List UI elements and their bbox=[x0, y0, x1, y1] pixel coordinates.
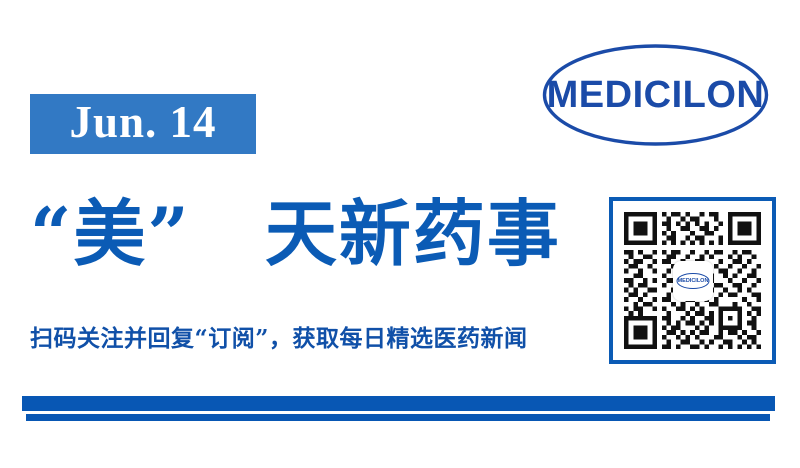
qr-center-brand-logo-icon: MEDICILON bbox=[673, 261, 713, 301]
newsletter-banner: Jun. 14 “美” 天新药事 扫码关注并回复“订阅”，获取每日精选医药新闻 … bbox=[0, 0, 800, 468]
subtitle: 扫码关注并回复“订阅”，获取每日精选医药新闻 bbox=[30, 322, 595, 354]
bottom-rule-thin bbox=[26, 414, 770, 421]
date-badge: Jun. 14 bbox=[30, 94, 256, 154]
qr-code-canvas: MEDICILON bbox=[624, 212, 761, 349]
headline-text: “美” 天新药事 bbox=[30, 198, 561, 270]
headline: “美” 天新药事 bbox=[30, 188, 590, 280]
svg-text:MEDICILON: MEDICILON bbox=[547, 74, 765, 116]
medicilon-ellipse-logo-icon: MEDICILON bbox=[541, 43, 770, 147]
svg-text:MEDICILON: MEDICILON bbox=[677, 278, 708, 284]
subtitle-text: 扫码关注并回复“订阅”，获取每日精选医药新闻 bbox=[30, 327, 527, 350]
date-badge-label: Jun. 14 bbox=[69, 100, 216, 148]
qr-code-icon[interactable]: MEDICILON bbox=[609, 197, 776, 364]
bottom-rule-thick bbox=[22, 396, 775, 411]
